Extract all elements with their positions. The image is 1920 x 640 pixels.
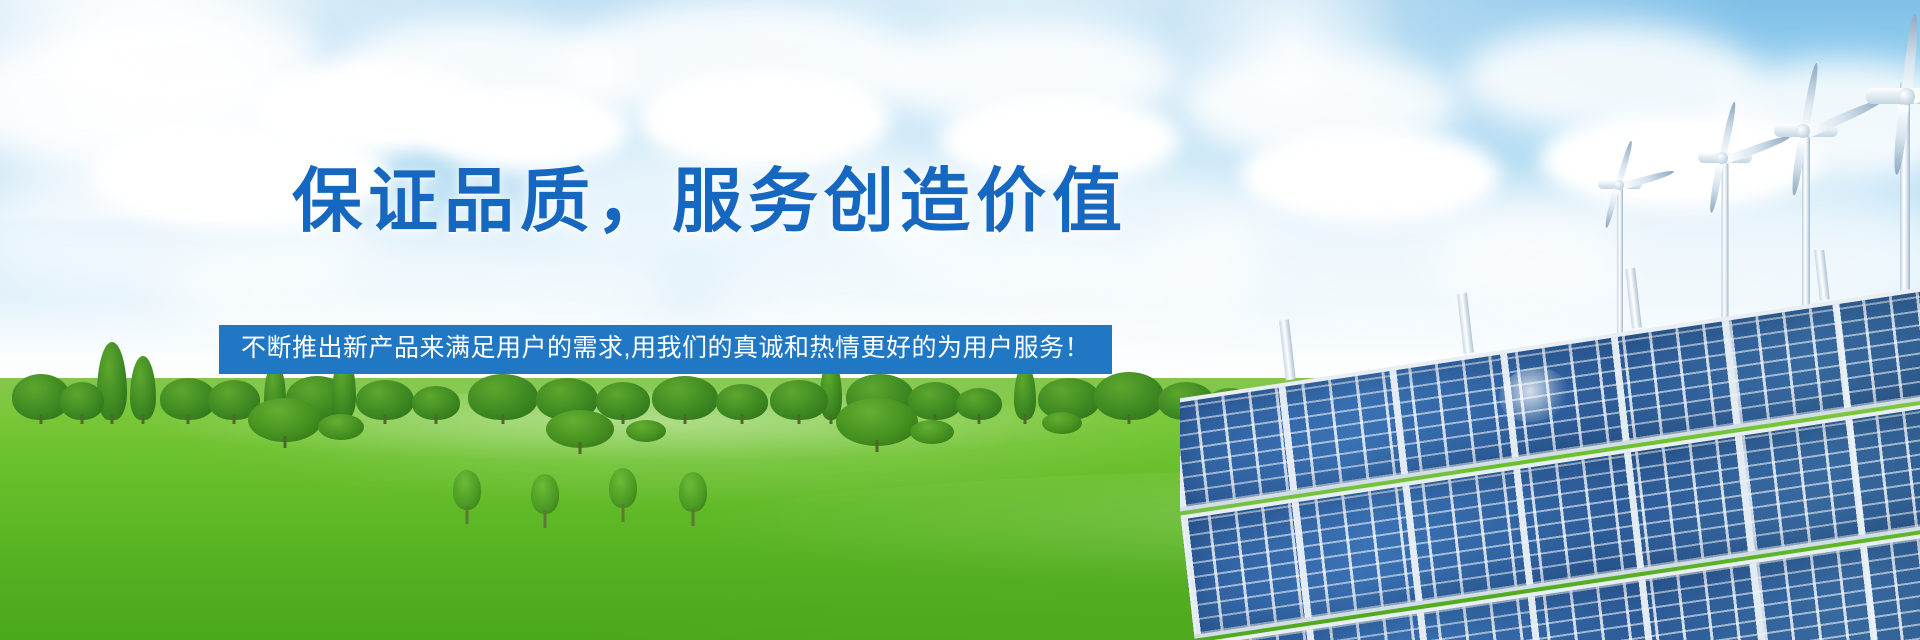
sapling-icon bbox=[452, 466, 482, 524]
subtitle-text: 不断推出新产品来满足用户的需求,用我们的真诚和热情更好的为用户服务！ bbox=[241, 336, 1090, 361]
sun-ray-icon bbox=[0, 0, 260, 120]
subtitle-banner: 不断推出新产品来满足用户的需求,用我们的真诚和热情更好的为用户服务！ bbox=[219, 325, 1112, 374]
sun-glow-secondary-icon bbox=[1140, 0, 1440, 160]
sapling-icon bbox=[608, 462, 638, 522]
sapling-icon bbox=[678, 470, 708, 526]
sapling-icon bbox=[530, 472, 560, 528]
bush-icon bbox=[546, 410, 614, 448]
hero-banner: 保证品质，服务创造价值 不断推出新产品来满足用户的需求,用我们的真诚和热情更好的… bbox=[0, 0, 1920, 640]
bush-icon bbox=[1042, 412, 1082, 434]
bush-icon bbox=[836, 398, 918, 446]
page-title: 保证品质，服务创造价值 bbox=[0, 166, 1420, 236]
bush-icon bbox=[910, 420, 954, 444]
solar-panel-array-icon bbox=[1180, 250, 1920, 640]
bush-icon bbox=[626, 420, 666, 442]
bush-icon bbox=[318, 414, 364, 440]
bush-icon bbox=[248, 398, 322, 442]
